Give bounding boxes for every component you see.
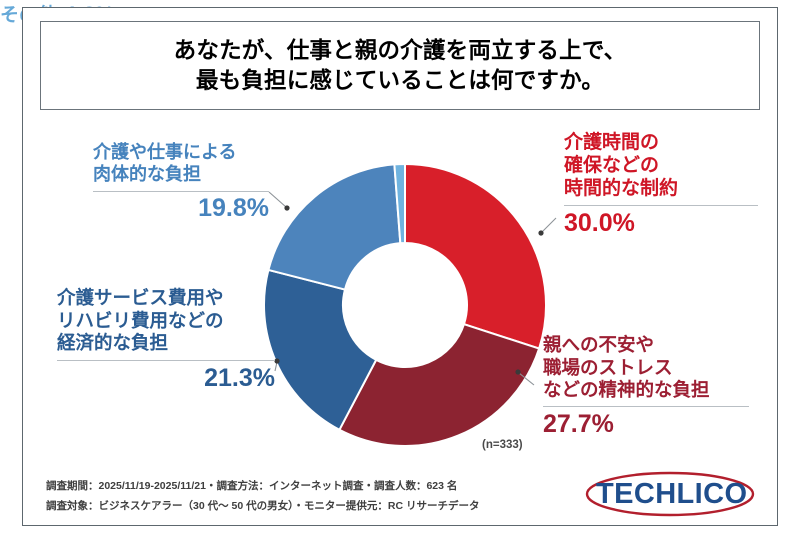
footer-line-2: 調査対象：ビジネスケアラー（30 代〜 50 代の男女）・モニター提供元：RC …: [46, 496, 479, 516]
callout-time-line-2: 確保などの: [564, 154, 758, 177]
callout-physical-line-2: 肉体的な負担: [93, 164, 269, 186]
donut-slice: [405, 164, 546, 349]
callout-label-economic: 介護サービス費用や リハビリ費用などの 経済的な負担 21.3%: [57, 287, 275, 392]
callout-label-time: 介護時間の 確保などの 時間的な制約 30.0%: [564, 131, 758, 237]
callout-physical-line-1: 介護や仕事による: [93, 142, 269, 164]
donut-chart-svg: [255, 155, 555, 455]
callout-mental-percent: 27.7%: [543, 411, 749, 439]
callout-label-physical: 介護や仕事による 肉体的な負担 19.8%: [93, 142, 269, 222]
callout-mental-line-3: などの精神的な負担: [543, 379, 749, 402]
callout-mental-line-2: 職場のストレス: [543, 357, 749, 380]
footer-line-1: 調査期間：2025/11/19-2025/11/21・調査方法：インターネット調…: [46, 476, 479, 496]
callout-label-mental: 親への不安や 職場のストレス などの精神的な負担 27.7%: [543, 334, 749, 438]
survey-infographic: あなたが、仕事と親の介護を両立する上で、 最も負担に感じていることは何ですか。 …: [0, 0, 800, 533]
callout-economic-percent: 21.3%: [57, 365, 275, 393]
sample-size-annotation: (n=333): [482, 439, 523, 451]
callout-physical-percent: 19.8%: [93, 195, 269, 223]
callout-economic-line-1: 介護サービス費用や: [57, 287, 275, 310]
logo-wordmark: TECHLICO: [596, 478, 747, 510]
callout-time-percent: 30.0%: [564, 210, 758, 238]
techlico-logo-svg: TECHLICO: [578, 470, 763, 518]
callout-economic-rule: [57, 360, 275, 361]
donut-chart: [255, 155, 555, 455]
title-box: あなたが、仕事と親の介護を両立する上で、 最も負担に感じていることは何ですか。: [40, 21, 760, 110]
donut-slice: [339, 324, 539, 446]
callout-mental-line-1: 親への不安や: [543, 334, 749, 357]
callout-physical-rule: [93, 191, 269, 192]
callout-time-line-1: 介護時間の: [564, 131, 758, 154]
title-line-2: 最も負担に感じていることは何ですか。: [196, 66, 604, 96]
donut-slice: [268, 164, 400, 289]
callout-economic-line-3: 経済的な負担: [57, 332, 275, 355]
callout-time-line-3: 時間的な制約: [564, 177, 758, 200]
title-line-1: あなたが、仕事と親の介護を両立する上で、: [174, 36, 627, 66]
techlico-logo: TECHLICO: [578, 470, 763, 518]
callout-mental-rule: [543, 406, 749, 407]
donut-slices: [264, 164, 546, 446]
callout-economic-line-2: リハビリ費用などの: [57, 310, 275, 333]
footer-notes: 調査期間：2025/11/19-2025/11/21・調査方法：インターネット調…: [46, 476, 479, 517]
callout-time-rule: [564, 205, 758, 206]
